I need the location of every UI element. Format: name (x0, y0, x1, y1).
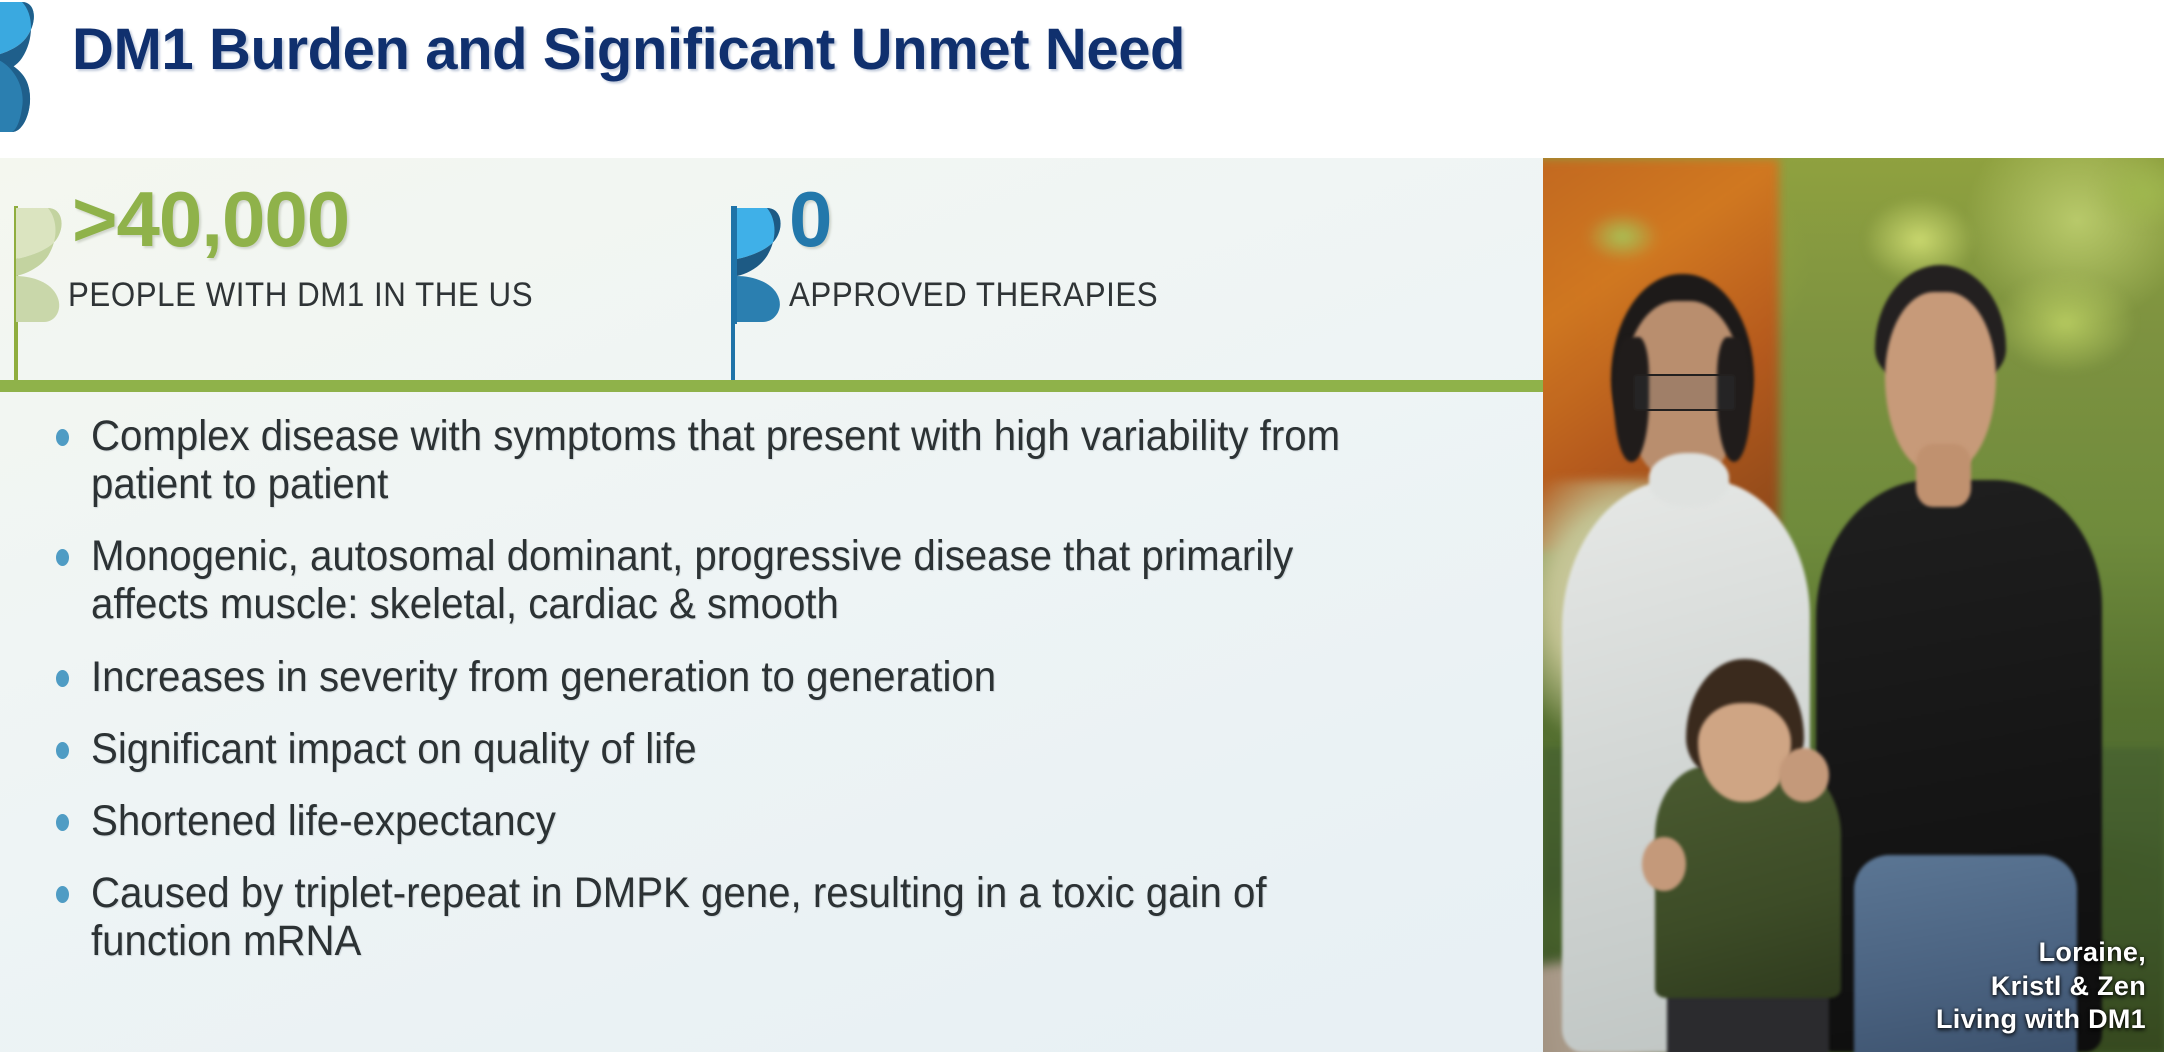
bullet-dot-icon (56, 670, 69, 687)
photo-caption-line: Kristl & Zen (1936, 970, 2146, 1003)
photo-caption-line: Living with DM1 (1936, 1003, 2146, 1036)
stat-label: PEOPLE WITH DM1 IN THE US (68, 276, 533, 315)
green-ribbon-icon (14, 206, 72, 324)
photo-person-mother-neck (1916, 444, 1972, 507)
bullet-dot-icon (56, 886, 69, 903)
list-item: Caused by triplet-repeat in DMPK gene, r… (56, 869, 1486, 965)
photo-caption-line: Loraine, (1936, 936, 2146, 969)
photo-person-hand-right (1642, 837, 1685, 891)
green-divider-bar (0, 380, 1543, 392)
bullet-dot-icon (56, 549, 69, 566)
bullet-dot-icon (56, 429, 69, 446)
list-item-text: Caused by triplet-repeat in DMPK gene, r… (91, 869, 1395, 965)
bullet-list: Complex disease with symptoms that prese… (56, 412, 1486, 989)
photo-person-grandmother-cowl (1649, 453, 1730, 507)
photo-person-glasses-icon (1633, 374, 1736, 410)
bullet-dot-icon (56, 742, 69, 759)
ribbon-logo-icon (0, 0, 40, 134)
stat-approved-therapies: 0 APPROVED THERAPIES (731, 158, 1543, 380)
bullet-dot-icon (56, 814, 69, 831)
list-item-text: Monogenic, autosomal dominant, progressi… (91, 532, 1395, 628)
family-photo: Loraine, Kristl & Zen Living with DM1 (1543, 158, 2164, 1052)
stat-label: APPROVED THERAPIES (789, 276, 1158, 315)
list-item: Complex disease with symptoms that prese… (56, 412, 1486, 508)
photo-scene (1543, 158, 2164, 1052)
slide-header: DM1 Burden and Significant Unmet Need (0, 0, 2164, 158)
photo-caption: Loraine, Kristl & Zen Living with DM1 (1936, 936, 2146, 1036)
list-item: Increases in severity from generation to… (56, 653, 1486, 701)
page-title: DM1 Burden and Significant Unmet Need (72, 16, 1185, 83)
list-item: Monogenic, autosomal dominant, progressi… (56, 532, 1486, 628)
blue-ribbon-icon (731, 206, 789, 324)
photo-person-hand-left (1779, 748, 1829, 802)
list-item-text: Shortened life-expectancy (91, 797, 1395, 845)
list-item-text: Increases in severity from generation to… (91, 653, 1395, 701)
stats-band: >40,000 PEOPLE WITH DM1 IN THE US 0 APPR… (0, 158, 1543, 380)
list-item-text: Complex disease with symptoms that prese… (91, 412, 1395, 508)
list-item: Significant impact on quality of life (56, 725, 1486, 773)
list-item-text: Significant impact on quality of life (91, 725, 1395, 773)
stat-value: 0 (789, 180, 831, 258)
slide: DM1 Burden and Significant Unmet Need >4… (0, 0, 2164, 1052)
list-item: Shortened life-expectancy (56, 797, 1486, 845)
stat-people-with-dm1: >40,000 PEOPLE WITH DM1 IN THE US (0, 158, 731, 380)
stat-value: >40,000 (72, 180, 349, 258)
